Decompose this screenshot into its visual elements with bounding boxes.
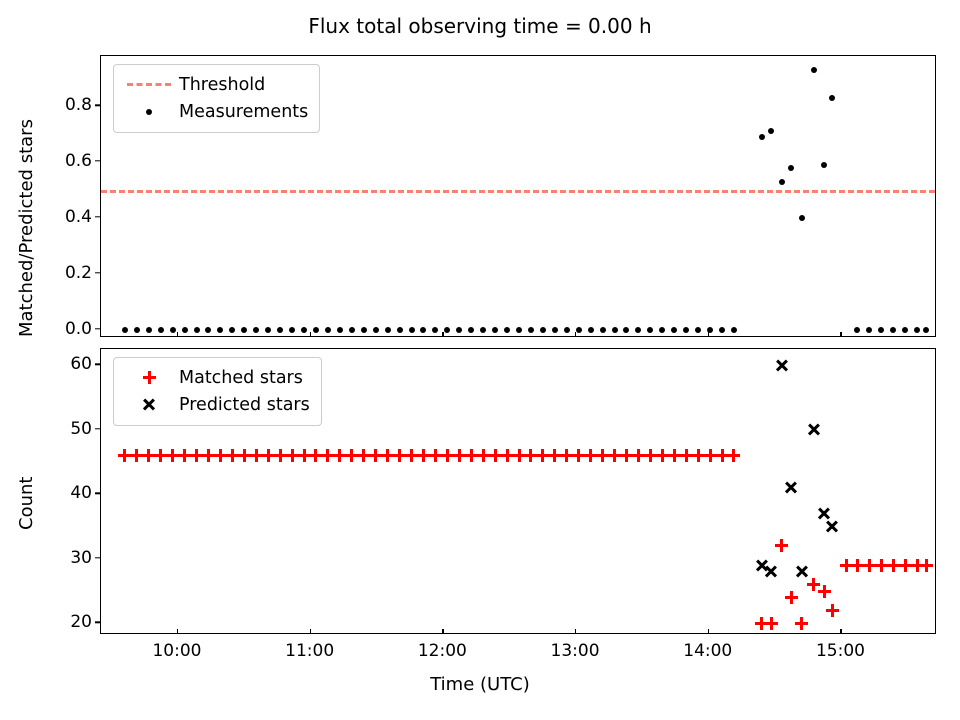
figure: Flux total observing time = 0.00 h 0.00.… [0, 0, 960, 720]
data-point [623, 327, 629, 333]
data-point [788, 165, 794, 171]
y-axis-label-top: Matched/Predicted stars [16, 119, 37, 337]
data-point [265, 327, 271, 333]
data-point [444, 327, 450, 333]
data-point [779, 179, 785, 185]
data-point [854, 327, 860, 333]
y-tick-mark [95, 328, 100, 329]
data-point [194, 327, 200, 333]
y-tick-mark [95, 272, 100, 273]
x-tick-mark [708, 332, 709, 337]
data-point [325, 327, 331, 333]
data-point [170, 327, 176, 333]
legend-label-measurements: Measurements [175, 102, 308, 122]
data-point [890, 327, 896, 333]
legend-item-matched-stars: Matched stars [123, 364, 310, 391]
x-tick-label: 10:00 [152, 641, 201, 661]
y-tick-label: 0.6 [65, 151, 92, 171]
data-point [229, 327, 235, 333]
data-point [349, 327, 355, 333]
legend-label-predicted-stars: Predicted stars [175, 395, 310, 415]
data-point [456, 327, 462, 333]
x-axis-label: Time (UTC) [0, 674, 960, 695]
data-point [528, 327, 534, 333]
data-point [217, 327, 223, 333]
data-point [205, 327, 211, 333]
legend-bottom: Matched stars Predicted stars [113, 357, 322, 426]
y-tick-mark [95, 105, 100, 106]
data-point [731, 327, 737, 333]
data-point [647, 327, 653, 333]
data-point [480, 327, 486, 333]
x-tick-mark [840, 629, 841, 634]
y-axis-ticks-top: 0.00.20.40.60.8 [34, 55, 92, 337]
data-point [504, 327, 510, 333]
data-point [671, 327, 677, 333]
data-point [241, 327, 247, 333]
x-tick-mark [177, 629, 178, 634]
data-point [361, 327, 367, 333]
plot-area-top: Threshold Measurements [100, 55, 936, 337]
data-point [253, 327, 259, 333]
y-tick-label: 50 [70, 419, 92, 439]
y-tick-label: 0.8 [65, 95, 92, 115]
y-tick-mark [95, 557, 100, 558]
data-point [768, 128, 774, 134]
data-point [564, 327, 570, 333]
data-point [600, 327, 606, 333]
legend-item-measurements: Measurements [123, 98, 308, 125]
data-point [492, 327, 498, 333]
data-point [878, 327, 884, 333]
x-tick-mark [575, 629, 576, 634]
data-point [337, 327, 343, 333]
y-tick-label: 40 [70, 483, 92, 503]
x-tick-label: 13:00 [551, 641, 600, 661]
threshold-line [101, 190, 935, 193]
data-point [313, 327, 319, 333]
x-tick-mark [575, 332, 576, 337]
data-point [659, 327, 665, 333]
x-tick-mark [840, 332, 841, 337]
dot-marker-icon [123, 109, 175, 115]
data-point [122, 327, 128, 333]
data-point [811, 67, 817, 73]
data-point [516, 327, 522, 333]
plot-area-bottom: Matched stars Predicted stars [100, 348, 936, 634]
data-point [829, 95, 835, 101]
y-tick-label: 0.0 [65, 319, 92, 339]
x-tick-mark [708, 629, 709, 634]
legend-item-threshold: Threshold [123, 71, 308, 98]
legend-item-predicted-stars: Predicted stars [123, 391, 310, 418]
data-point [683, 327, 689, 333]
data-point [182, 327, 188, 333]
data-point [468, 327, 474, 333]
y-tick-label: 0.2 [65, 263, 92, 283]
y-tick-mark [95, 428, 100, 429]
data-point [759, 134, 765, 140]
data-point [902, 327, 908, 333]
data-point [695, 327, 701, 333]
data-point [866, 327, 872, 333]
data-point [635, 327, 641, 333]
legend-top: Threshold Measurements [113, 64, 320, 133]
y-axis-ticks-bottom: 2030405060 [34, 348, 92, 634]
data-point [923, 327, 929, 333]
x-tick-label: 15:00 [816, 641, 865, 661]
data-point [576, 327, 582, 333]
y-tick-mark [95, 363, 100, 364]
x-tick-label: 12:00 [418, 641, 467, 661]
data-point [552, 327, 558, 333]
data-point [385, 327, 391, 333]
data-point [289, 327, 295, 333]
y-tick-label: 20 [70, 612, 92, 632]
data-point [588, 327, 594, 333]
y-axis-label-bottom: Count [16, 477, 37, 530]
y-tick-mark [95, 493, 100, 494]
data-point [277, 327, 283, 333]
y-tick-mark [95, 216, 100, 217]
data-point [158, 327, 164, 333]
data-point [612, 327, 618, 333]
x-tick-mark [310, 629, 311, 634]
data-point [146, 327, 152, 333]
y-tick-label: 30 [70, 548, 92, 568]
data-point [134, 327, 140, 333]
data-point [301, 327, 307, 333]
y-tick-mark [95, 622, 100, 623]
dashed-line-icon [123, 83, 175, 86]
data-point [432, 327, 438, 333]
data-point [420, 327, 426, 333]
data-point [540, 327, 546, 333]
data-point [821, 162, 827, 168]
chart-title: Flux total observing time = 0.00 h [0, 14, 960, 38]
x-tick-mark [177, 332, 178, 337]
data-point [373, 327, 379, 333]
y-tick-label: 60 [70, 354, 92, 374]
legend-label-matched-stars: Matched stars [175, 368, 303, 388]
x-tick-label: 14:00 [683, 641, 732, 661]
x-tick-mark [310, 332, 311, 337]
y-tick-label: 0.4 [65, 207, 92, 227]
data-point [397, 327, 403, 333]
x-tick-mark [442, 332, 443, 337]
data-point [409, 327, 415, 333]
data-point [914, 327, 920, 333]
data-point [719, 327, 725, 333]
x-tick-mark [442, 629, 443, 634]
y-tick-mark [95, 160, 100, 161]
x-tick-label: 11:00 [285, 641, 334, 661]
data-point [799, 215, 805, 221]
legend-label-threshold: Threshold [175, 75, 265, 95]
